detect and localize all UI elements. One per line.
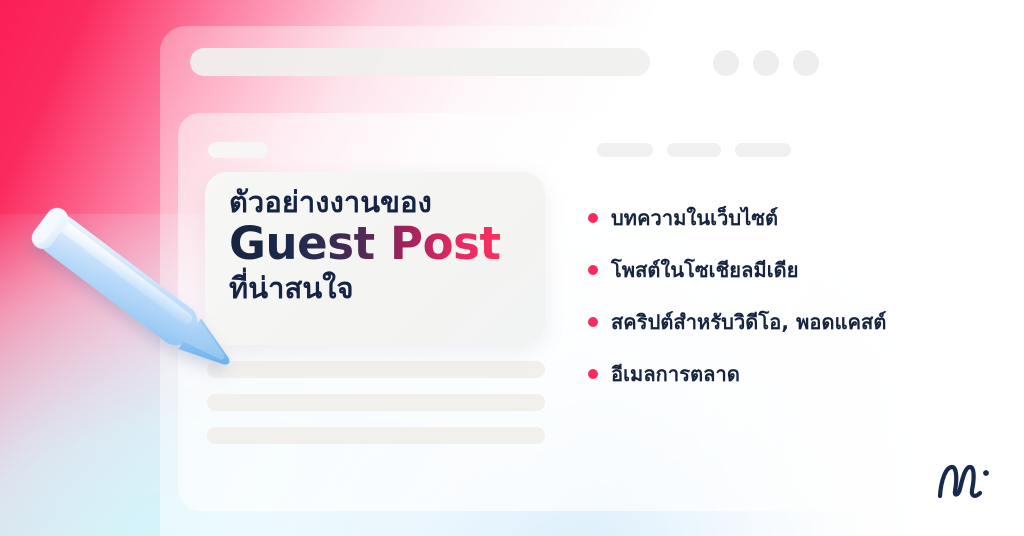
text-line-placeholder-2 [207,394,545,411]
pill-placeholder-2 [667,143,721,157]
list-item: บทความในเว็บไซต์ [588,192,998,244]
pill-placeholder-3 [735,143,791,157]
text-line-placeholder-3 [207,427,545,444]
banner-canvas: ตัวอย่างงานของ Guest Post ที่น่าสนใจ บทค… [0,0,1024,536]
page-title: ตัวอย่างงานของ Guest Post ที่น่าสนใจ [229,186,529,304]
feature-list: บทความในเว็บไซต์ โพสต์ในโซเชียลมีเดีย สค… [588,192,998,400]
list-item-label: สคริปต์สำหรับวิดีโอ, พอดแคสต์ [611,306,886,338]
content-tag-placeholder [208,142,268,158]
heading-line-bottom: ที่น่าสนใจ [229,272,529,304]
pill-placeholder-1 [597,143,653,157]
logo-dot-icon [983,470,989,476]
bullet-dot-icon [588,369,598,379]
heading-line-main: Guest Post [229,219,501,269]
list-item: สคริปต์สำหรับวิดีโอ, พอดแคสต์ [588,296,998,348]
list-item: โพสต์ในโซเชียลมีเดีย [588,244,998,296]
list-item-label: โพสต์ในโซเชียลมีเดีย [611,254,799,286]
list-item-label: อีเมลการตลาด [611,358,740,390]
list-item-label: บทความในเว็บไซต์ [611,202,778,234]
search-bar-placeholder [190,48,650,76]
window-dot-3 [793,50,819,76]
bullet-dot-icon [588,265,598,275]
list-item: อีเมลการตลาด [588,348,998,400]
bullet-dot-icon [588,213,598,223]
heading-line-top: ตัวอย่างงานของ [229,186,529,218]
pencil-stylus-icon [8,188,258,394]
window-dot-1 [713,50,739,76]
mi-brand-logo-icon [932,454,998,502]
bullet-dot-icon [588,317,598,327]
window-dot-2 [753,50,779,76]
